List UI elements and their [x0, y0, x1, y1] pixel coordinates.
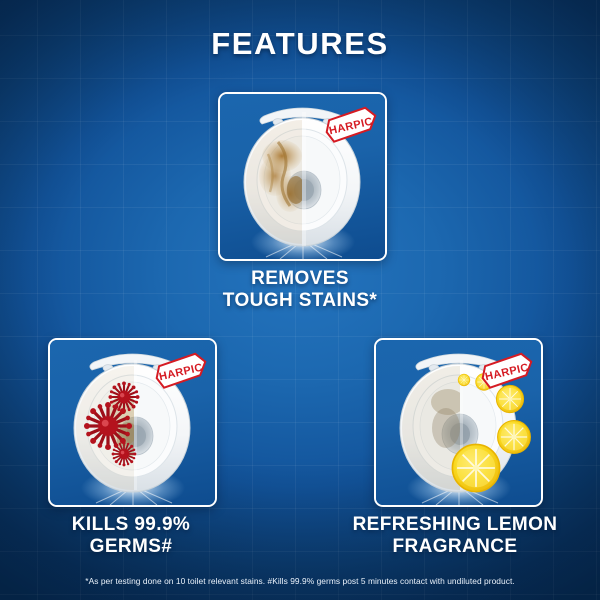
caption-kills-germs: KILLS 99.9% GERMS# — [1, 514, 261, 558]
germ-icon — [112, 442, 137, 467]
caption-removes-tough-stains: REMOVES TOUGH STAINS* — [170, 268, 430, 312]
caption-lemon-fragrance: REFRESHING LEMON FRAGRANCE — [325, 514, 585, 558]
lemon-slice-icon — [458, 374, 470, 386]
caption-line-2: GERMS# — [1, 536, 261, 558]
harpic-logo-badge: HARPIC — [155, 352, 211, 392]
caption-line-1: REMOVES — [170, 268, 430, 290]
caption-line-1: REFRESHING LEMON — [325, 514, 585, 536]
features-poster: FEATURES — [0, 0, 600, 600]
germ-icon — [109, 382, 140, 413]
lemon-slice-icon — [452, 444, 499, 491]
feature-card-lemon-fragrance[interactable]: HARPIC — [374, 338, 543, 507]
harpic-logo-badge: HARPIC — [481, 352, 537, 392]
lemon-slice-icon — [498, 421, 531, 454]
feature-card-removes-tough-stains[interactable]: HARPIC — [218, 92, 387, 261]
harpic-logo-badge: HARPIC — [325, 106, 381, 146]
page-title: FEATURES — [0, 26, 600, 62]
caption-line-1: KILLS 99.9% — [1, 514, 261, 536]
caption-line-2: TOUGH STAINS* — [170, 290, 430, 312]
caption-line-2: FRAGRANCE — [325, 536, 585, 558]
footnote-disclaimer: *As per testing done on 10 toilet releva… — [0, 576, 600, 586]
feature-card-kills-germs[interactable]: HARPIC — [48, 338, 217, 507]
